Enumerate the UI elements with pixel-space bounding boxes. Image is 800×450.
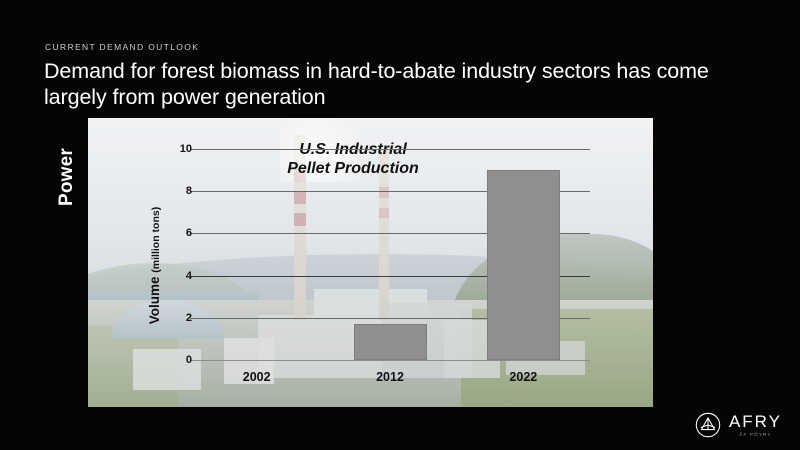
chart-photo-panel: U.S. Industrial Pellet Production Volume… bbox=[88, 118, 653, 407]
chart-title: U.S. Industrial Pellet Production bbox=[208, 140, 498, 178]
sector-label-power-text: Power bbox=[56, 148, 78, 206]
y-axis-tick-6: 6 bbox=[166, 227, 192, 239]
bar-2012[interactable] bbox=[354, 324, 427, 360]
afry-logo: AFRY ÅF PÖYRY bbox=[695, 412, 782, 438]
afry-name: AFRY bbox=[729, 413, 782, 430]
y-axis-title-unit: (million tons) bbox=[151, 206, 163, 272]
chart-title-line-2: Pellet Production bbox=[208, 159, 498, 178]
x-axis-tick-2002: 2002 bbox=[243, 370, 271, 384]
y-axis-tick-8: 8 bbox=[166, 185, 192, 197]
afry-tagline: ÅF PÖYRY bbox=[739, 432, 771, 437]
afry-mark-icon bbox=[695, 412, 721, 438]
afry-wordmark: AFRY ÅF PÖYRY bbox=[729, 413, 782, 437]
y-axis-tick-4: 4 bbox=[166, 270, 192, 282]
y-axis-tick-10: 10 bbox=[166, 143, 192, 155]
bar-chart: U.S. Industrial Pellet Production Volume… bbox=[88, 118, 653, 407]
gridline-10 bbox=[190, 149, 590, 150]
sector-label-power: Power bbox=[52, 118, 82, 236]
y-axis-tick-0: 0 bbox=[166, 354, 192, 366]
bar-2022[interactable] bbox=[487, 170, 560, 360]
y-axis-title-main: Volume bbox=[148, 276, 163, 324]
slide-root: CURRENT DEMAND OUTLOOK Demand for forest… bbox=[0, 0, 800, 450]
axis-baseline bbox=[190, 360, 590, 361]
x-axis-tick-2022: 2022 bbox=[509, 370, 537, 384]
y-axis-title: Volume (million tons) bbox=[144, 170, 166, 360]
y-axis-tick-2: 2 bbox=[166, 312, 192, 324]
x-axis-tick-2012: 2012 bbox=[376, 370, 404, 384]
slide-eyebrow: CURRENT DEMAND OUTLOOK bbox=[45, 42, 199, 52]
page-title: Demand for forest biomass in hard-to-aba… bbox=[44, 58, 744, 110]
